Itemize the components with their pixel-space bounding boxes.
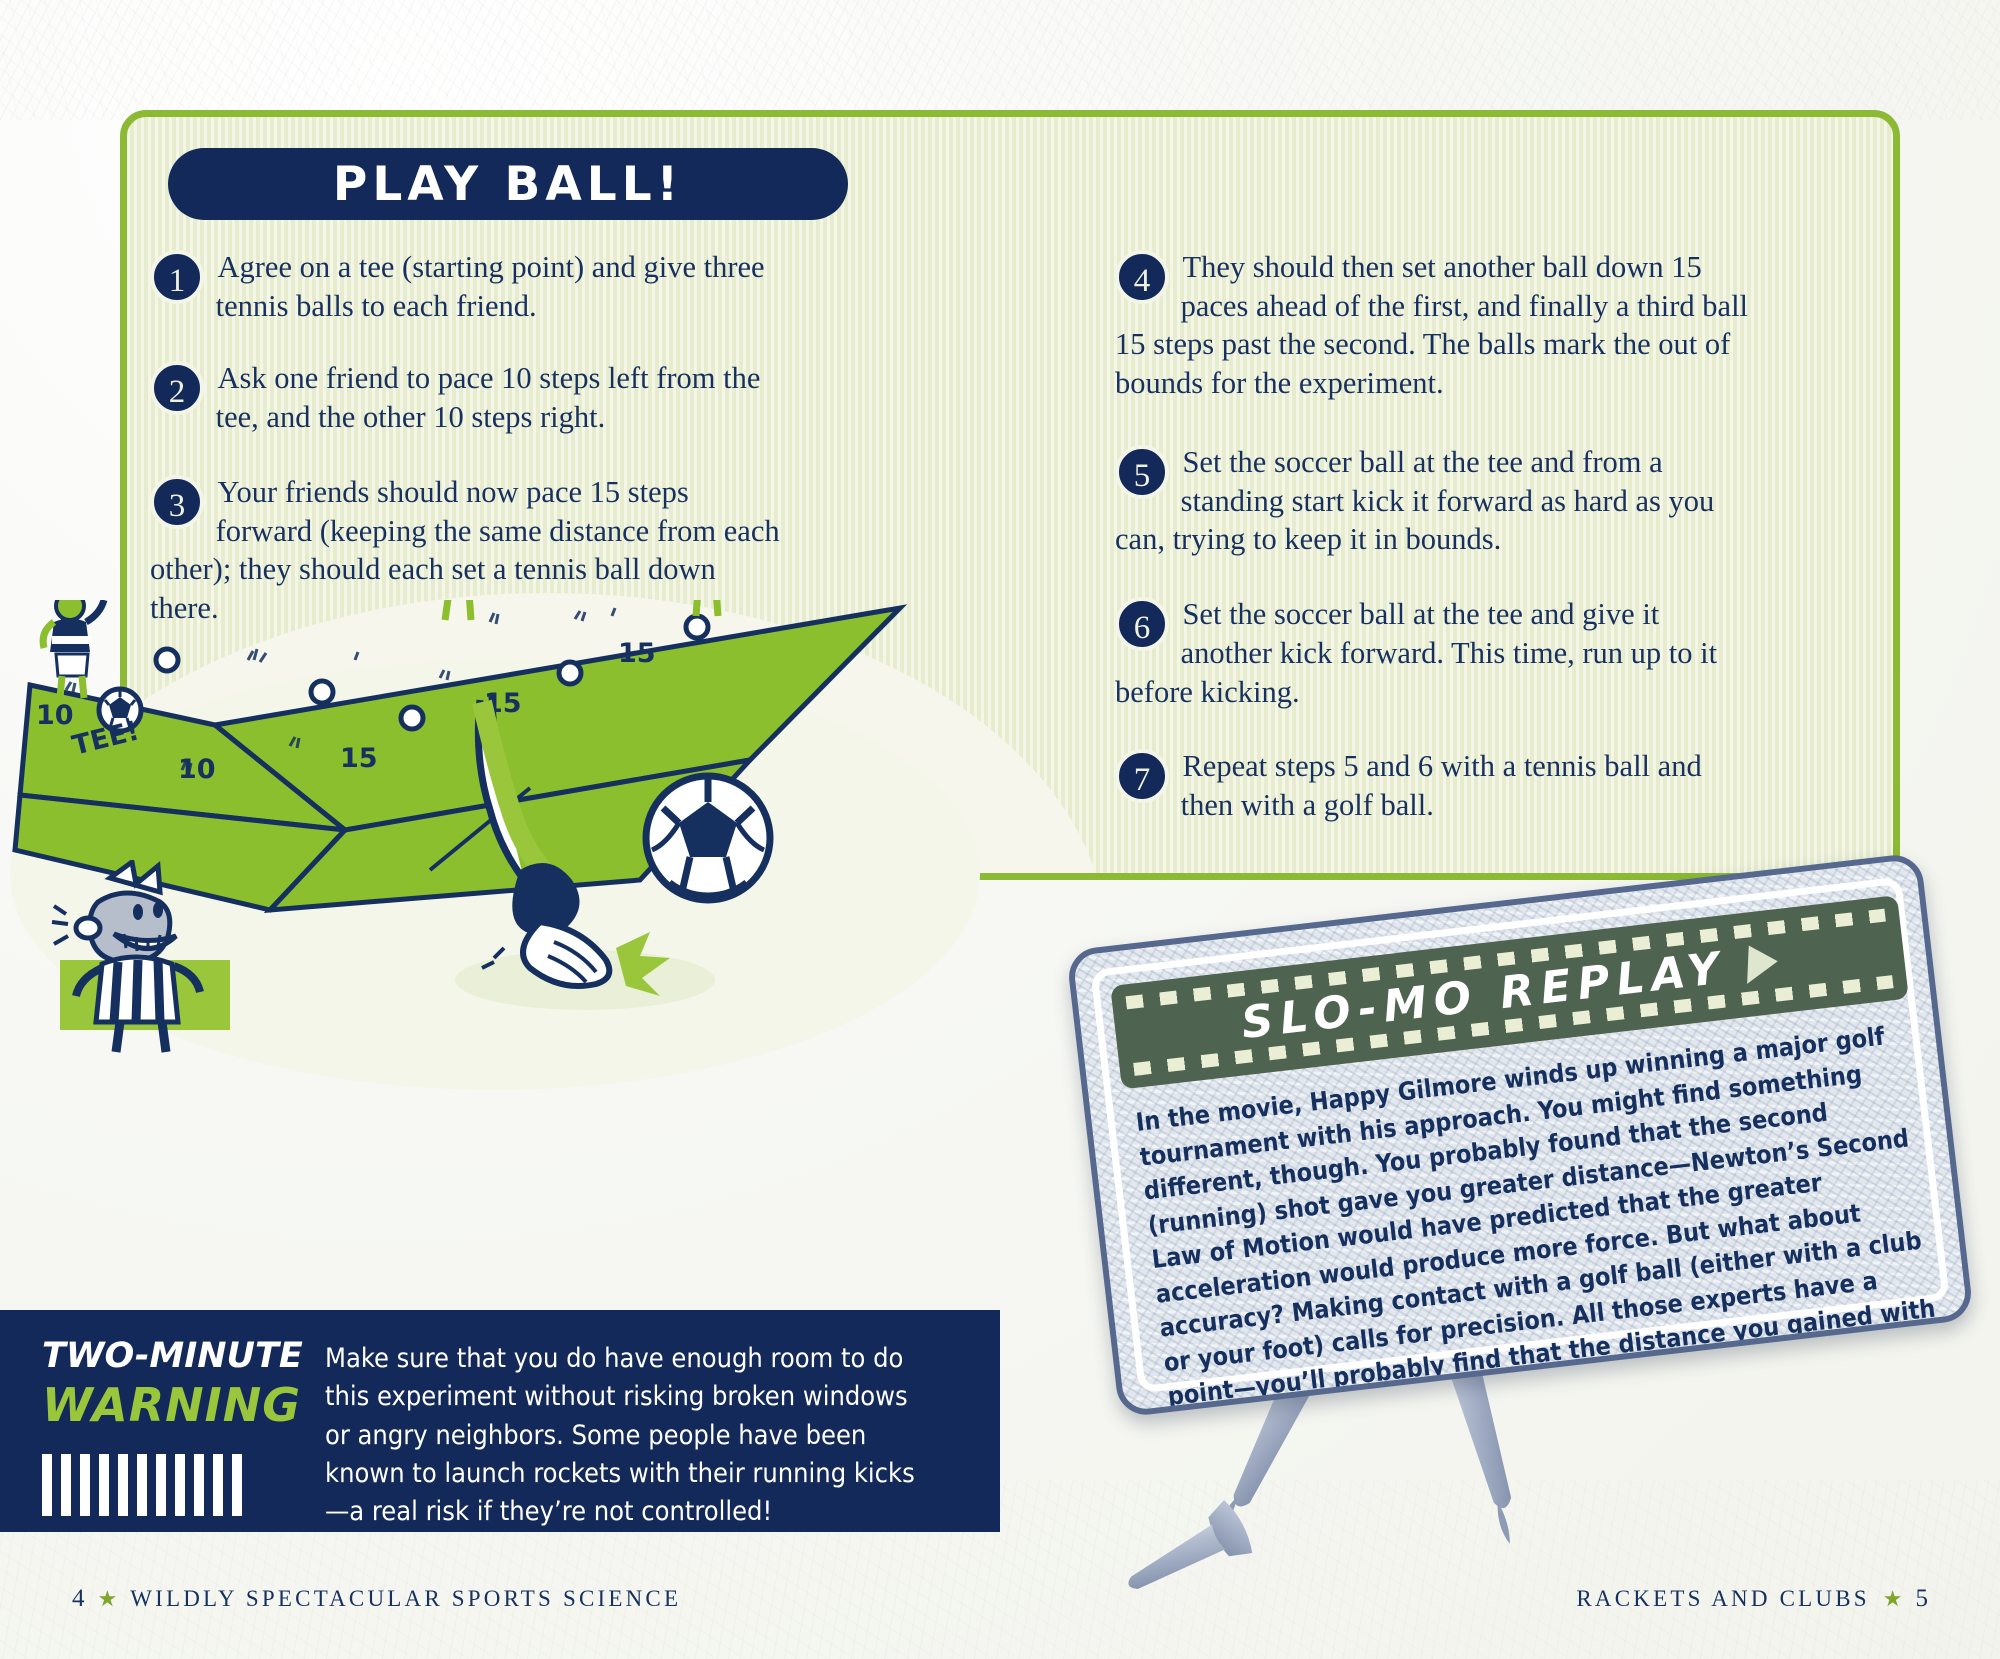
figure-center-friend	[435, 600, 499, 620]
play-ball-title-pill: PLAY BALL!	[168, 148, 848, 220]
star-icon: ★	[98, 1586, 118, 1612]
step-item: 2 Ask one friend to pace 10 steps left f…	[150, 359, 790, 436]
slo-mo-frame: SLO-MO REPLAY In the movie, Happy Gilmor…	[1066, 852, 1974, 1418]
tennis-ball-marker	[311, 681, 333, 703]
kicking-foot-illustration	[420, 690, 780, 1020]
step-number: 3	[150, 475, 204, 529]
step-text: Set the soccer ball at the tee and give …	[1115, 595, 1755, 711]
page-footer: 4 ★ WILDLY SPECTACULAR SPORTS SCIENCE RA…	[0, 1585, 2000, 1635]
step-item: 4 They should then set another ball down…	[1115, 248, 1755, 403]
step-number: 7	[1115, 749, 1169, 803]
page-title: PLAY BALL!	[333, 157, 683, 212]
step-number: 1	[150, 250, 204, 304]
step-number: 6	[1115, 597, 1169, 651]
play-triangle-icon	[1747, 942, 1778, 984]
referee-illustration	[40, 860, 270, 1050]
label-bottom-10: 10	[178, 754, 216, 785]
two-minute-warning-box: TWO-MINUTE WARNING Make sure that you do…	[0, 1310, 1000, 1532]
tennis-ball-marker	[559, 662, 581, 684]
step-text: Repeat steps 5 and 6 with a tennis ball …	[1115, 747, 1755, 824]
warning-bars-icon	[42, 1454, 272, 1516]
label-bottom-15: 15	[340, 743, 378, 774]
label-right-15: 15	[618, 638, 656, 669]
footer-book-title: WILDLY SPECTACULAR SPORTS SCIENCE	[130, 1586, 681, 1612]
step-number: 4	[1115, 250, 1169, 304]
footer-page-number-right: 5	[1916, 1585, 1929, 1613]
step-item: 6 Set the soccer ball at the tee and giv…	[1115, 595, 1755, 711]
star-icon: ★	[1883, 1586, 1903, 1612]
step-text: Set the soccer ball at the tee and from …	[1115, 443, 1755, 559]
steps-column-left: 1 Agree on a tee (starting point) and gi…	[150, 248, 790, 656]
footer-right: RACKETS AND CLUBS ★ 5	[1576, 1585, 1928, 1613]
paper-texture-top	[0, 0, 2000, 120]
slo-mo-replay-card: SLO-MO REPLAY In the movie, Happy Gilmor…	[1066, 852, 1974, 1418]
step-item: 1 Agree on a tee (starting point) and gi…	[150, 248, 790, 325]
page-canvas: PLAY BALL! 1 Agree on a tee (starting po…	[0, 0, 2000, 1659]
figure-right-friend	[686, 600, 733, 616]
step-text: Ask one friend to pace 10 steps left fro…	[150, 359, 790, 436]
step-text: They should then set another ball down 1…	[1115, 248, 1755, 403]
tennis-ball-marker	[156, 649, 178, 671]
footer-page-number-left: 4	[72, 1585, 85, 1613]
soccer-ball	[646, 776, 770, 900]
step-item: 7 Repeat steps 5 and 6 with a tennis bal…	[1115, 747, 1755, 824]
steps-column-right: 4 They should then set another ball down…	[1115, 248, 1755, 853]
footer-left: 4 ★ WILDLY SPECTACULAR SPORTS SCIENCE	[72, 1585, 681, 1613]
label-left-10: 10	[36, 700, 74, 731]
tennis-ball-marker	[686, 616, 708, 638]
step-number: 5	[1115, 445, 1169, 499]
footer-chapter-title: RACKETS AND CLUBS	[1576, 1586, 1869, 1612]
step-item: 5 Set the soccer ball at the tee and fro…	[1115, 443, 1755, 559]
warning-body-text: Make sure that you do have enough room t…	[325, 1340, 935, 1532]
warning-title-line1: TWO-MINUTE	[42, 1336, 272, 1376]
warning-title-group: TWO-MINUTE WARNING	[42, 1336, 272, 1516]
warning-title-line2: WARNING	[42, 1378, 272, 1432]
step-text: Agree on a tee (starting point) and give…	[150, 248, 790, 325]
